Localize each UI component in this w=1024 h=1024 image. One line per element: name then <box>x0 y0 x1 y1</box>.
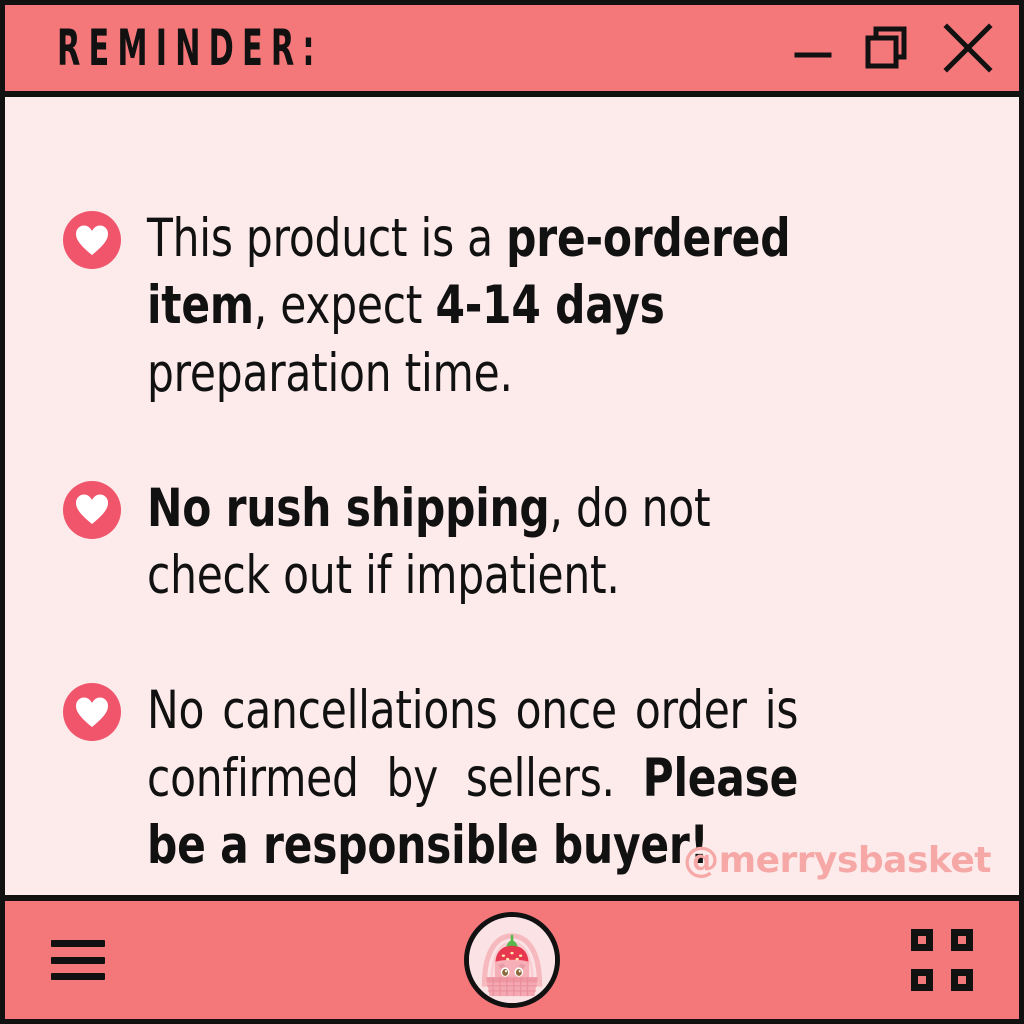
minimize-icon <box>789 25 835 71</box>
emphasis-text: No rush shipping <box>147 478 550 539</box>
emphasis-text: 4-14 days <box>435 275 664 336</box>
reminder-text-2: No rush shipping, do not check out if im… <box>147 475 798 610</box>
watermark: @merrysbasket <box>683 840 991 881</box>
strawberry-basket-avatar[interactable] <box>464 912 560 1008</box>
hamburger-line <box>51 957 105 964</box>
fullscreen-icon[interactable] <box>911 929 973 991</box>
avatar-illustration <box>469 917 555 1003</box>
reminder-window: REMINDER: <box>0 0 1024 1024</box>
close-icon <box>939 19 997 77</box>
reminder-text-1: This product is a pre-ordered item, expe… <box>147 205 798 407</box>
hamburger-line <box>51 973 105 980</box>
minimize-button[interactable] <box>789 25 835 71</box>
body-text: This product is a <box>147 208 506 269</box>
body-text: , expect <box>254 275 436 336</box>
heart-icon <box>63 683 121 741</box>
title-bar: REMINDER: <box>5 5 1019 97</box>
fullscreen-corner-top-right <box>951 929 973 951</box>
reminder-item: No rush shipping, do not check out if im… <box>63 475 961 610</box>
window-title: REMINDER: <box>57 19 323 78</box>
restore-icon <box>861 22 913 74</box>
window-controls <box>789 19 997 77</box>
body-text: preparation time. <box>147 343 513 404</box>
heart-icon <box>63 211 121 269</box>
hamburger-line <box>51 940 105 947</box>
hamburger-menu-icon[interactable] <box>51 940 105 980</box>
fullscreen-corner-bottom-left <box>911 969 933 991</box>
close-button[interactable] <box>939 19 997 77</box>
fullscreen-corner-bottom-right <box>951 969 973 991</box>
reminder-content: This product is a pre-ordered item, expe… <box>5 97 1019 895</box>
heart-icon <box>63 481 121 539</box>
reminder-item: This product is a pre-ordered item, expe… <box>63 205 961 407</box>
footer-bar <box>5 895 1019 1019</box>
fullscreen-corner-top-left <box>911 929 933 951</box>
restore-button[interactable] <box>861 22 913 74</box>
